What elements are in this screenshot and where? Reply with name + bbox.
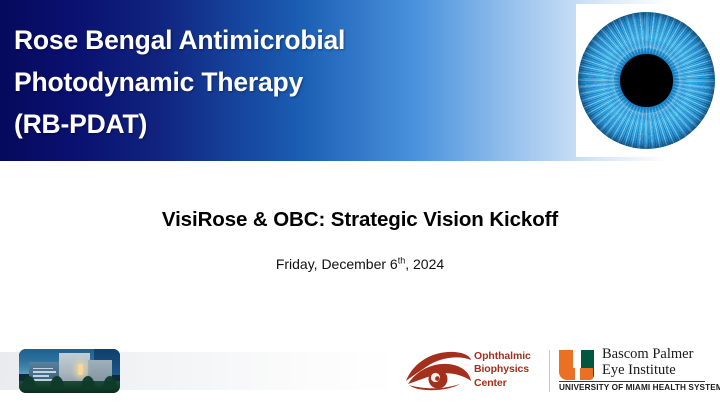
ophthalmic-biophysics-center-logo: Ophthalmic Biophysics Center: [404, 349, 542, 394]
um-u-logo: [559, 350, 599, 381]
slide-subtitle: VisiRose & OBC: Strategic Vision Kickoff: [0, 208, 720, 232]
photo-palm-tree: [102, 374, 118, 387]
blue-iris-photo: [576, 4, 717, 157]
photo-palm-tree: [49, 374, 65, 387]
presentation-slide: Rose Bengal Antimicrobial Photodynamic T…: [0, 0, 720, 405]
iris-graphic: [578, 12, 715, 149]
photo-palm-tree: [80, 374, 96, 387]
date-prefix: Friday, December 6: [276, 256, 398, 272]
bpei-logo-name: Bascom Palmer Eye Institute: [602, 347, 693, 378]
obc-logo-text: Ophthalmic Biophysics Center: [474, 350, 531, 390]
slide-header-banner: Rose Bengal Antimicrobial Photodynamic T…: [0, 0, 720, 161]
photo-palm-tree: [21, 374, 37, 387]
bpei-logo-rule: [559, 381, 705, 382]
logo-divider: [549, 350, 550, 392]
bascom-palmer-building-photo: [19, 349, 120, 393]
limbus-ring: [578, 12, 715, 149]
u-logo-gap: [575, 366, 580, 381]
slide-date: Friday, December 6th, 2024: [0, 256, 720, 272]
ophthalmic-eye-icon: [404, 351, 472, 391]
slide-title: Rose Bengal Antimicrobial Photodynamic T…: [14, 19, 554, 145]
bpei-logo-tagline: UNIVERSITY OF MIAMI HEALTH SYSTEM: [559, 383, 720, 392]
bascom-palmer-eye-institute-logo: Bascom Palmer Eye Institute UNIVERSITY O…: [558, 348, 706, 394]
date-suffix: , 2024: [405, 256, 444, 272]
